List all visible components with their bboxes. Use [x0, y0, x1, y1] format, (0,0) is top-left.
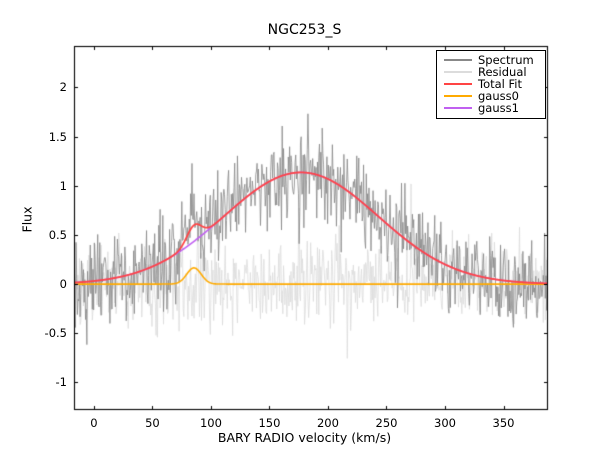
legend-item-label: gauss1 — [478, 102, 519, 114]
legend-color-swatch — [444, 107, 472, 109]
x-tick-label: 250 — [376, 416, 398, 430]
y-tick-label: -0.5 — [27, 326, 67, 340]
y-tick-label: 1.5 — [27, 130, 67, 144]
x-tick-label: 200 — [317, 416, 339, 430]
legend-item: gauss1 — [441, 102, 541, 114]
x-tick-label: 150 — [258, 416, 280, 430]
x-tick-label: 100 — [200, 416, 222, 430]
chart-legend: SpectrumResidualTotal Fitgauss0gauss1 — [436, 50, 546, 119]
y-tick-label: 0.5 — [27, 228, 67, 242]
y-tick-label: 0 — [27, 277, 67, 291]
x-tick-label: 300 — [434, 416, 456, 430]
legend-color-swatch — [444, 83, 472, 85]
x-tick-label: 50 — [145, 416, 160, 430]
legend-color-swatch — [444, 59, 472, 61]
matplotlib-figure: NGC253_S BARY RADIO velocity (km/s) Flux… — [0, 0, 609, 459]
legend-color-swatch — [444, 71, 472, 73]
x-tick-label: 0 — [90, 416, 97, 430]
y-tick-label: -1 — [27, 375, 67, 389]
legend-color-swatch — [444, 95, 472, 97]
y-tick-label: 2 — [27, 80, 67, 94]
x-tick-label: 350 — [493, 416, 515, 430]
y-tick-label: 1 — [27, 179, 67, 193]
